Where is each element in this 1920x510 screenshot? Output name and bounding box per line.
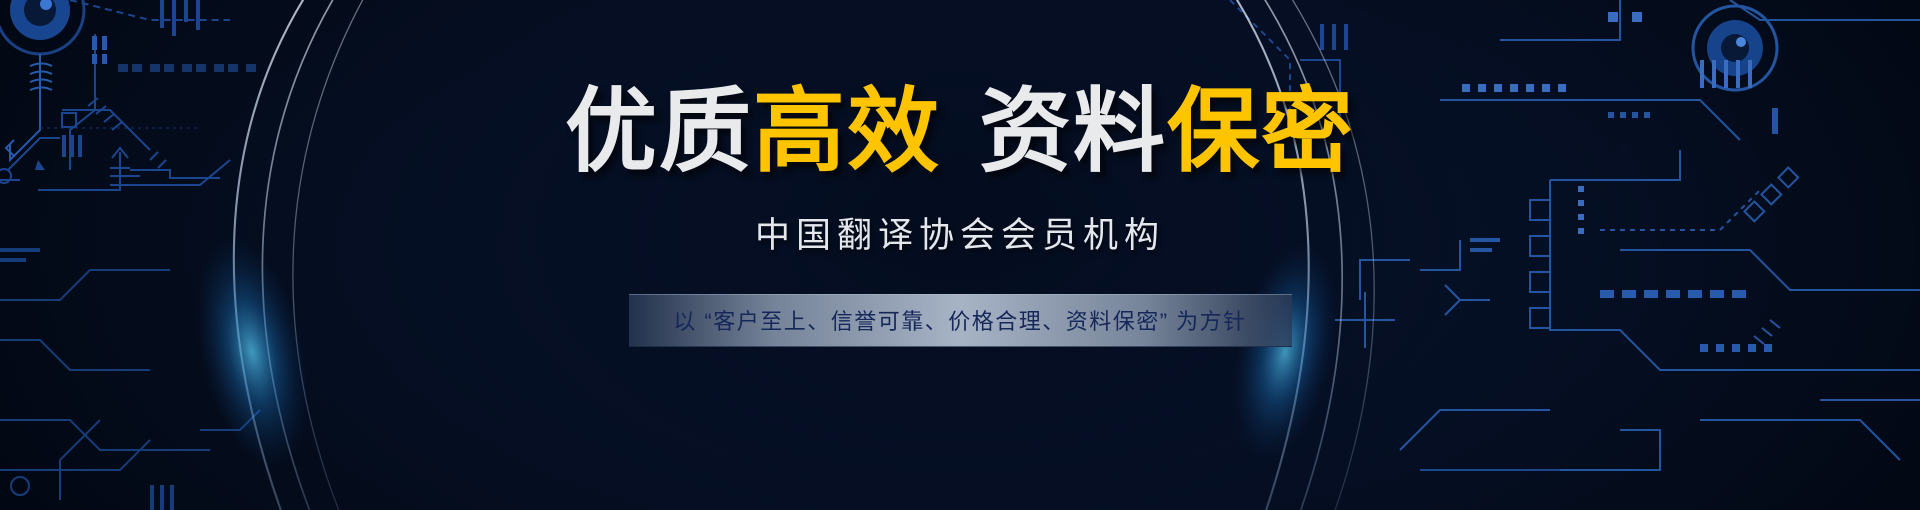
slogan-text: 以 “客户至上、信誉可靠、价格合理、资料保密” 为方针 [673,304,1246,336]
headline-segment-2: 高效 [753,84,941,181]
page-subtitle: 中国翻译协会会员机构 [755,207,1165,258]
headline-segment-3: 资料 [979,84,1167,181]
headline-segment-4: 保密 [1167,84,1355,181]
hero-banner: 优质 高效 资料 保密 中国翻译协会会员机构 以 “客户至上、信誉可靠、价格合理… [0,0,1920,510]
page-title: 优质 高效 资料 保密 [565,84,1355,181]
headline-segment-1: 优质 [565,84,753,181]
slogan-bar: 以 “客户至上、信誉可靠、价格合理、资料保密” 为方针 [629,294,1292,347]
banner-content: 优质 高效 资料 保密 中国翻译协会会员机构 以 “客户至上、信誉可靠、价格合理… [0,0,1920,510]
